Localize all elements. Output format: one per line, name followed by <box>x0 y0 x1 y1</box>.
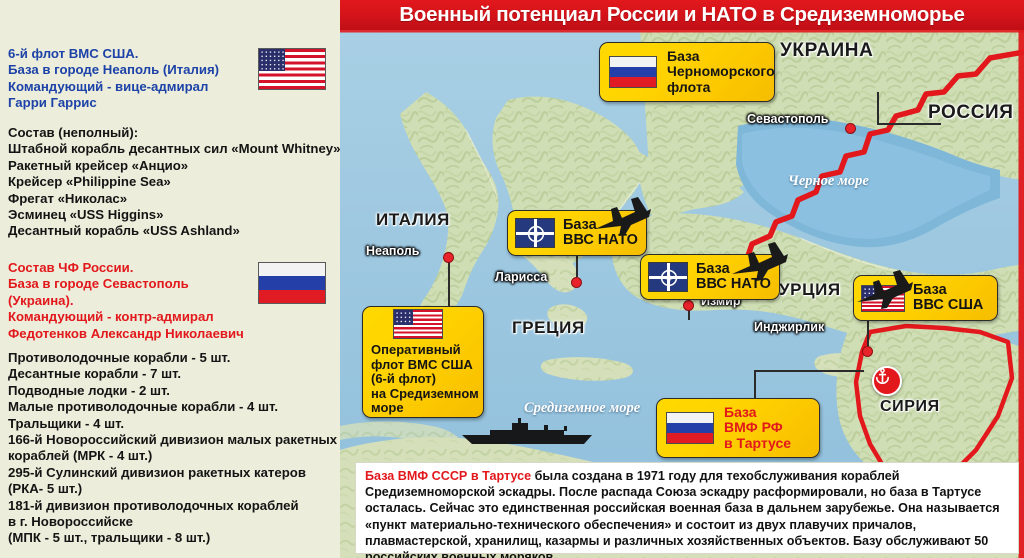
usa-line: Гарри Гаррис <box>8 95 219 111</box>
russia-composition-item: 166-й Новороссийский дивизион малых раке… <box>8 432 337 448</box>
russia-composition-item: Подводные лодки - 2 шт. <box>8 383 337 399</box>
russia-composition-item: Противолодочные корабли - 5 шт. <box>8 350 337 366</box>
city-label-sevastopol: Севастополь <box>747 112 829 126</box>
tartus-description-highlight: База ВМФ СССР в Тартусе <box>365 469 531 483</box>
title-banner: Военный потенциал России и НАТО в Средиз… <box>340 0 1024 30</box>
callout-text: База Черноморского флота <box>667 49 775 96</box>
usa-composition-list: Состав (неполный): Штабной корабль десан… <box>8 125 340 240</box>
callout-line: ВМФ РФ <box>724 420 791 436</box>
russia-line: (Украина). <box>8 293 244 309</box>
callout-black-sea-fleet[interactable]: База Черноморского флота <box>599 42 775 102</box>
callout-line: ВВС США <box>913 298 983 314</box>
callout-line: База <box>667 49 775 65</box>
nato-star-glyph <box>649 263 688 292</box>
usa-line: База в городе Неаполь (Италия) <box>8 62 219 78</box>
callout-us-sixth-fleet[interactable]: Оперативный флот ВМС США (6-й флот) на С… <box>362 306 484 418</box>
infographic-root: УКРАИНА РОССИЯ ИТАЛИЯ ГРЕЦИЯ ТУРЦИЯ СИРИ… <box>0 0 1024 558</box>
callout-line: База <box>724 405 791 421</box>
russia-composition-item: Десантные корабли - 7 шт. <box>8 366 337 382</box>
callout-line: в Тартусе <box>724 436 791 452</box>
callout-line: на Средиземном <box>371 387 479 402</box>
usa-composition-item: Крейсер «Philippine Sea» <box>8 174 340 190</box>
city-dot-naples <box>443 252 454 263</box>
callout-line: флот ВМС США <box>371 358 479 373</box>
leader-line-sevastopol-h <box>877 123 941 125</box>
callout-line: (6-й флот) <box>371 372 479 387</box>
russia-composition-item: в г. Новороссийске <box>8 514 337 530</box>
city-label-larissa: Ларисса <box>495 270 547 284</box>
city-label-incirlik: Инджирлик <box>754 320 824 334</box>
usa-composition-item: Эсминец «USS Higgins» <box>8 207 340 223</box>
anchor-icon <box>872 366 902 396</box>
usa-composition-item: Десантный корабль «USS Ashland» <box>8 223 340 239</box>
russia-line: Командующий - контр-адмирал <box>8 309 244 325</box>
tartus-description-panel: База ВМФ СССР в Тартусе была создана в 1… <box>355 462 1019 554</box>
ru-flag-icon <box>258 262 326 304</box>
city-dot-incirlik <box>862 346 873 357</box>
russia-line: Федотенков Александр Николаевич <box>8 326 244 342</box>
russia-line: Состав ЧФ России. <box>8 260 244 276</box>
usa-line: 6-й флот ВМС США. <box>8 46 219 62</box>
usa-composition-item: Фрегат «Николас» <box>8 191 340 207</box>
ru-flag-icon <box>609 56 657 88</box>
anchor-glyph <box>874 368 891 385</box>
russia-composition-item: кораблей (МРК - 4 шт.) <box>8 448 337 464</box>
russia-composition-list: Противолодочные корабли - 5 шт. Десантны… <box>8 350 337 547</box>
usa-composition-item: Ракетный крейсер «Анцио» <box>8 158 340 174</box>
leader-line-tartus-h <box>754 370 864 372</box>
callout-text: База ВМФ РФ в Тартусе <box>724 405 791 452</box>
russia-command-block: Состав ЧФ России. База в городе Севастоп… <box>8 260 244 342</box>
left-sidebar: 6-й флот ВМС США. База в городе Неаполь … <box>0 0 340 558</box>
sea-label-mediterranean: Средиземное море <box>524 400 640 417</box>
warship-icon <box>460 418 596 446</box>
fighter-jet-icon-incirlik <box>853 268 915 310</box>
usa-command-block: 6-й флот ВМС США. База в городе Неаполь … <box>8 46 219 112</box>
nato-logo-icon <box>515 218 555 248</box>
russia-composition-item: Малые противолодочные корабли - 4 шт. <box>8 399 337 415</box>
russia-composition-item: 181-й дивизион противолодочных кораблей <box>8 498 337 514</box>
callout-line: База <box>913 283 983 299</box>
nato-logo-icon <box>648 262 688 292</box>
usa-composition-item: Состав (неполный): <box>8 125 340 141</box>
russia-composition-item: 295-й Сулинский дивизион ракетных катеро… <box>8 465 337 481</box>
russia-composition-item: (МПК - 5 шт., тральщики - 8 шт.) <box>8 530 337 546</box>
country-label-syria: СИРИЯ <box>880 398 940 416</box>
ru-flag-icon <box>666 412 714 444</box>
sea-label-black-sea: Черное море <box>788 173 869 190</box>
fighter-jet-icon-larissa <box>591 195 653 237</box>
city-label-naples: Неаполь <box>366 244 419 258</box>
country-label-greece: ГРЕЦИЯ <box>512 318 585 338</box>
callout-line: Черноморского <box>667 64 775 80</box>
russia-line: База в городе Севастополь <box>8 276 244 292</box>
country-label-italy: ИТАЛИЯ <box>376 210 450 230</box>
city-dot-izmir <box>683 300 694 311</box>
country-label-russia: РОССИЯ <box>928 102 1014 124</box>
nato-star-glyph <box>516 219 555 248</box>
leader-line-sevastopol <box>877 92 879 125</box>
city-dot-larissa <box>571 277 582 288</box>
us-flag-icon <box>258 48 326 90</box>
country-label-ukraine: УКРАИНА <box>780 40 873 62</box>
callout-ru-navy-tartus[interactable]: База ВМФ РФ в Тартусе <box>656 398 820 458</box>
usa-line: Командующий - вице-адмирал <box>8 79 219 95</box>
callout-line: Оперативный <box>371 343 479 358</box>
callout-text: База ВВС США <box>913 283 983 314</box>
city-dot-sevastopol <box>845 123 856 134</box>
callout-line: флота <box>667 80 775 96</box>
russia-composition-item: Тральщики - 4 шт. <box>8 416 337 432</box>
fighter-jet-icon-izmir <box>728 240 790 282</box>
callout-text: Оперативный флот ВМС США (6-й флот) на С… <box>371 343 479 416</box>
tartus-description-text: База ВМФ СССР в Тартусе была создана в 1… <box>365 468 1010 558</box>
russia-composition-item: (РКА- 5 шт.) <box>8 481 337 497</box>
us-flag-icon <box>393 309 443 339</box>
callout-line: море <box>371 401 479 416</box>
usa-composition-item: Штабной корабль десантных сил «Mount Whi… <box>8 141 340 157</box>
page-title: Военный потенциал России и НАТО в Средиз… <box>399 3 964 27</box>
